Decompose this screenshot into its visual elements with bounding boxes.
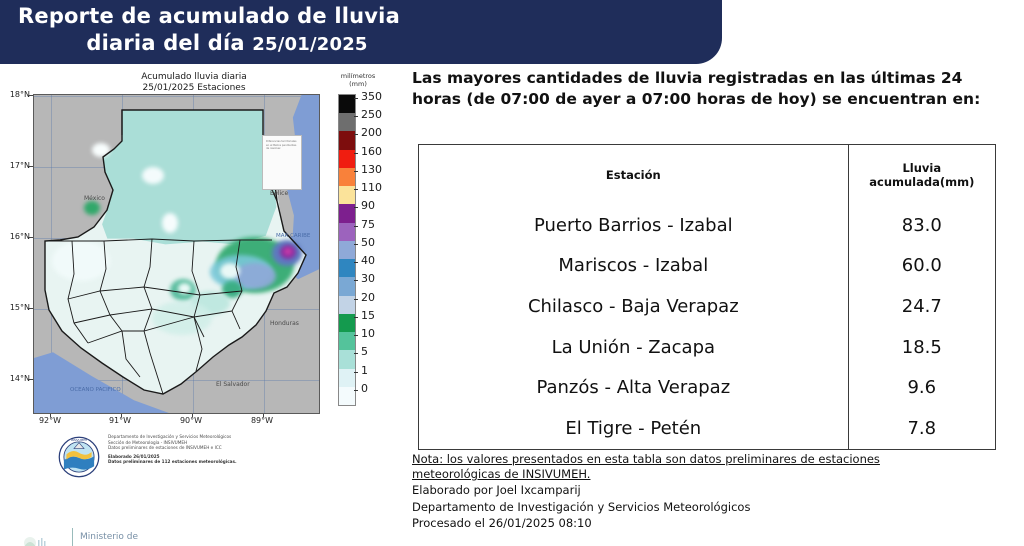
table-cell-station-5: El Tigre - Petén bbox=[419, 408, 848, 449]
colorbar-band-16 bbox=[339, 387, 355, 405]
colorbar-legend: milímetros (mm) 350250200160130110907550… bbox=[330, 72, 402, 412]
colorbar-tick-2: 200 bbox=[361, 126, 382, 139]
intro-paragraph: Las mayores cantidades de lluvia registr… bbox=[412, 68, 1010, 110]
credit-line-4: Elaborado 26/01/2025 bbox=[108, 454, 160, 459]
colorbar-dash-13 bbox=[354, 335, 358, 336]
map-xtick-1: 91°W bbox=[105, 416, 135, 425]
table-header-value-line1: Lluvia bbox=[902, 161, 941, 175]
colorbar-title-line1: milímetros bbox=[341, 72, 376, 80]
svg-text:INSIVUMEH: INSIVUMEH bbox=[71, 438, 87, 442]
note-line-3: Elaborado por Joel Ixcamparij bbox=[412, 483, 1012, 498]
insivumeh-logo-icon: INSIVUMEH bbox=[58, 436, 100, 478]
table-cell-value-1: 60.0 bbox=[848, 246, 995, 287]
colorbar-tick-4: 130 bbox=[361, 163, 382, 176]
table-row: Panzós - Alta Verapaz9.6 bbox=[419, 368, 995, 409]
colorbar-dash-11 bbox=[354, 299, 358, 300]
table-cell-station-1: Mariscos - Izabal bbox=[419, 246, 848, 287]
colorbar-tick-9: 40 bbox=[361, 254, 375, 267]
table-cell-station-4: Panzós - Alta Verapaz bbox=[419, 368, 848, 409]
credit-line-1: Departamento de Investigación y Servicio… bbox=[108, 434, 231, 439]
note-line-2: meteorológicas de INSIVUMEH. bbox=[412, 467, 590, 481]
colorbar-band-4 bbox=[339, 168, 355, 186]
credit-line-2: Sección de Meteorología - INSIVUMEH bbox=[108, 440, 187, 445]
label-el-salvador: El Salvador bbox=[216, 381, 250, 388]
colorbar-band-14 bbox=[339, 350, 355, 368]
map-credit-block: INSIVUMEH Departamento de Investigación … bbox=[58, 434, 318, 486]
page-title-line2: diaria del día 25/01/2025 bbox=[18, 30, 418, 58]
colorbar-tick-7: 75 bbox=[361, 218, 375, 231]
page-title-line1: Reporte de acumulado de lluvia bbox=[18, 3, 418, 30]
map-plot-area[interactable]: México Belice Honduras El Salvador MAR C… bbox=[33, 94, 320, 414]
credit-line-3: Datos preliminares de estaciones de INSI… bbox=[108, 445, 222, 450]
page-footer: Ministerio de bbox=[0, 524, 330, 546]
table-cell-station-3: La Unión - Zacapa bbox=[419, 327, 848, 368]
table-cell-value-2: 24.7 bbox=[848, 286, 995, 327]
colorbar-dash-9 bbox=[354, 262, 358, 263]
colorbar-band-1 bbox=[339, 113, 355, 131]
table-row: Chilasco - Baja Verapaz24.7 bbox=[419, 286, 995, 327]
colorbar-band-10 bbox=[339, 277, 355, 295]
colorbar-tick-10: 30 bbox=[361, 272, 375, 285]
colorbar-dash-14 bbox=[354, 353, 358, 354]
colorbar-dash-0 bbox=[354, 98, 358, 99]
colorbar-band-11 bbox=[339, 296, 355, 314]
map-ytick-2: 16°N bbox=[2, 232, 30, 241]
colorbar-band-0 bbox=[339, 95, 355, 113]
colorbar-ticks: 3502502001601301109075504030201510510 bbox=[354, 94, 402, 404]
map-disclaimer-box: Diferencias territoriales en el Belice p… bbox=[262, 135, 302, 190]
map-title: Acumulado lluvia diaria 25/01/2025 Estac… bbox=[84, 72, 304, 94]
note-line-5: Procesado el 26/01/2025 08:10 bbox=[412, 516, 1012, 531]
colorbar-band-5 bbox=[339, 186, 355, 204]
colorbar-tick-8: 50 bbox=[361, 236, 375, 249]
colorbar-tick-1: 250 bbox=[361, 108, 382, 121]
map-credit-text: Departamento de Investigación y Servicio… bbox=[108, 434, 313, 465]
colorbar-band-13 bbox=[339, 332, 355, 350]
colorbar-dash-16 bbox=[354, 390, 358, 391]
colorbar-dash-12 bbox=[354, 317, 358, 318]
colorbar-dash-2 bbox=[354, 134, 358, 135]
colorbar-band-6 bbox=[339, 204, 355, 222]
rainfall-table: Estación Lluvia acumulada(mm) Puerto Bar… bbox=[418, 144, 996, 450]
colorbar-tick-6: 90 bbox=[361, 199, 375, 212]
table-header-row: Estación Lluvia acumulada(mm) bbox=[419, 145, 995, 205]
colorbar-tick-14: 5 bbox=[361, 345, 368, 358]
colorbar-dash-10 bbox=[354, 280, 358, 281]
label-honduras: Honduras bbox=[270, 320, 299, 327]
map-title-line2: 25/01/2025 Estaciones bbox=[142, 83, 245, 93]
page-title: Reporte de acumulado de lluvia diaria de… bbox=[18, 3, 418, 58]
label-mexico: México bbox=[84, 195, 105, 202]
colorbar-dash-4 bbox=[354, 171, 358, 172]
ministry-logo-icon bbox=[16, 530, 66, 546]
colorbar-band-8 bbox=[339, 241, 355, 259]
colorbar-tick-15: 1 bbox=[361, 364, 368, 377]
table-cell-station-0: Puerto Barrios - Izabal bbox=[419, 205, 848, 246]
credit-line-5: Datos preliminares de 112 estaciones met… bbox=[108, 459, 237, 464]
table-cell-value-4: 9.6 bbox=[848, 368, 995, 409]
report-date: 25/01/2025 bbox=[252, 34, 367, 55]
table-row: Mariscos - Izabal60.0 bbox=[419, 246, 995, 287]
colorbar-band-3 bbox=[339, 150, 355, 168]
colorbar-dash-6 bbox=[354, 207, 358, 208]
colorbar-title-line2: (mm) bbox=[349, 80, 367, 88]
colorbar-band-12 bbox=[339, 314, 355, 332]
table-body: Puerto Barrios - Izabal83.0Mariscos - Iz… bbox=[419, 205, 995, 449]
table-cell-value-3: 18.5 bbox=[848, 327, 995, 368]
table-cell-value-0: 83.0 bbox=[848, 205, 995, 246]
colorbar-title: milímetros (mm) bbox=[330, 72, 386, 88]
colorbar-dash-15 bbox=[354, 372, 358, 373]
colorbar-dash-1 bbox=[354, 116, 358, 117]
note-block: Nota: los valores presentados en esta ta… bbox=[412, 452, 1012, 531]
table-row: Puerto Barrios - Izabal83.0 bbox=[419, 205, 995, 246]
colorbar-tick-5: 110 bbox=[361, 181, 382, 194]
map-figure: Acumulado lluvia diaria 25/01/2025 Estac… bbox=[0, 66, 404, 546]
colorbar-dash-7 bbox=[354, 226, 358, 227]
table-row: La Unión - Zacapa18.5 bbox=[419, 327, 995, 368]
header-banner: Reporte de acumulado de lluvia diaria de… bbox=[0, 0, 722, 64]
colorbar-dash-8 bbox=[354, 244, 358, 245]
map-title-line1: Acumulado lluvia diaria bbox=[141, 72, 247, 82]
colorbar-band-15 bbox=[339, 369, 355, 387]
label-mar-caribe: MAR CARIBE bbox=[276, 233, 310, 239]
note-line-4: Departamento de Investigación y Servicio… bbox=[412, 500, 1012, 515]
map-ytick-0: 18°N bbox=[2, 90, 30, 99]
colorbar-band-9 bbox=[339, 259, 355, 277]
table-header-station: Estación bbox=[419, 145, 848, 205]
map-ytick-1: 17°N bbox=[2, 161, 30, 170]
map-ytick-3: 15°N bbox=[2, 303, 30, 312]
table-cell-value-5: 7.8 bbox=[848, 408, 995, 449]
note-line-1: Nota: los valores presentados en esta ta… bbox=[412, 452, 880, 466]
colorbar-dash-5 bbox=[354, 189, 358, 190]
colorbar-tick-0: 350 bbox=[361, 90, 382, 103]
colorbar-tick-3: 160 bbox=[361, 145, 382, 158]
map-xtick-0: 92°W bbox=[35, 416, 65, 425]
colorbar-tick-11: 20 bbox=[361, 291, 375, 304]
colorbar-tick-16: 0 bbox=[361, 382, 368, 395]
map-ytick-4: 14°N bbox=[2, 374, 30, 383]
colorbar-tick-13: 10 bbox=[361, 327, 375, 340]
footer-divider bbox=[72, 528, 73, 546]
table-header-value-line2: acumulada(mm) bbox=[869, 175, 974, 189]
table-cell-station-2: Chilasco - Baja Verapaz bbox=[419, 286, 848, 327]
gridline-h-0 bbox=[34, 96, 319, 97]
map-xtick-3: 89°W bbox=[247, 416, 277, 425]
colorbar-band-7 bbox=[339, 223, 355, 241]
footer-ministry-label: Ministerio de bbox=[80, 532, 138, 542]
colorbar-tick-12: 15 bbox=[361, 309, 375, 322]
table-row: El Tigre - Petén7.8 bbox=[419, 408, 995, 449]
map-xtick-2: 90°W bbox=[176, 416, 206, 425]
label-belice: Belice bbox=[270, 190, 288, 197]
label-oceano-pacifico: OCEANO PACIFICO bbox=[70, 387, 121, 393]
colorbar-band-2 bbox=[339, 131, 355, 149]
table-header-value: Lluvia acumulada(mm) bbox=[848, 145, 995, 205]
colorbar-dash-3 bbox=[354, 153, 358, 154]
